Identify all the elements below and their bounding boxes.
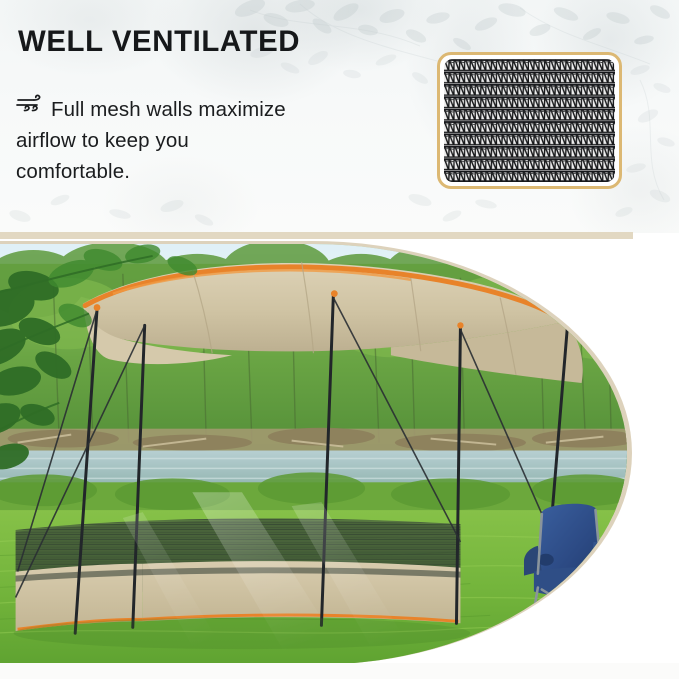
wind-icon: [16, 93, 46, 117]
mesh-fabric-swatch: [437, 52, 622, 189]
lifestyle-photo: [0, 241, 632, 665]
description-line-2: airflow to keep you: [16, 125, 381, 156]
page-title: WELL VENTILATED: [18, 25, 300, 59]
feature-description: Full mesh walls maximize airflow to keep…: [51, 94, 381, 187]
product-feature-card: WELL VENTILATED Full mesh walls maximize…: [0, 0, 679, 679]
bottom-band: [0, 663, 679, 679]
description-line-1: Full mesh walls maximize: [51, 94, 381, 125]
mesh-pattern-icon: [444, 59, 615, 182]
screen-house-scene: [0, 244, 627, 665]
description-line-3: comfortable.: [16, 156, 381, 187]
top-info-panel: WELL VENTILATED Full mesh walls maximize…: [0, 0, 679, 233]
mesh-swatch-image: [444, 59, 615, 182]
divider-bar: [0, 232, 633, 239]
